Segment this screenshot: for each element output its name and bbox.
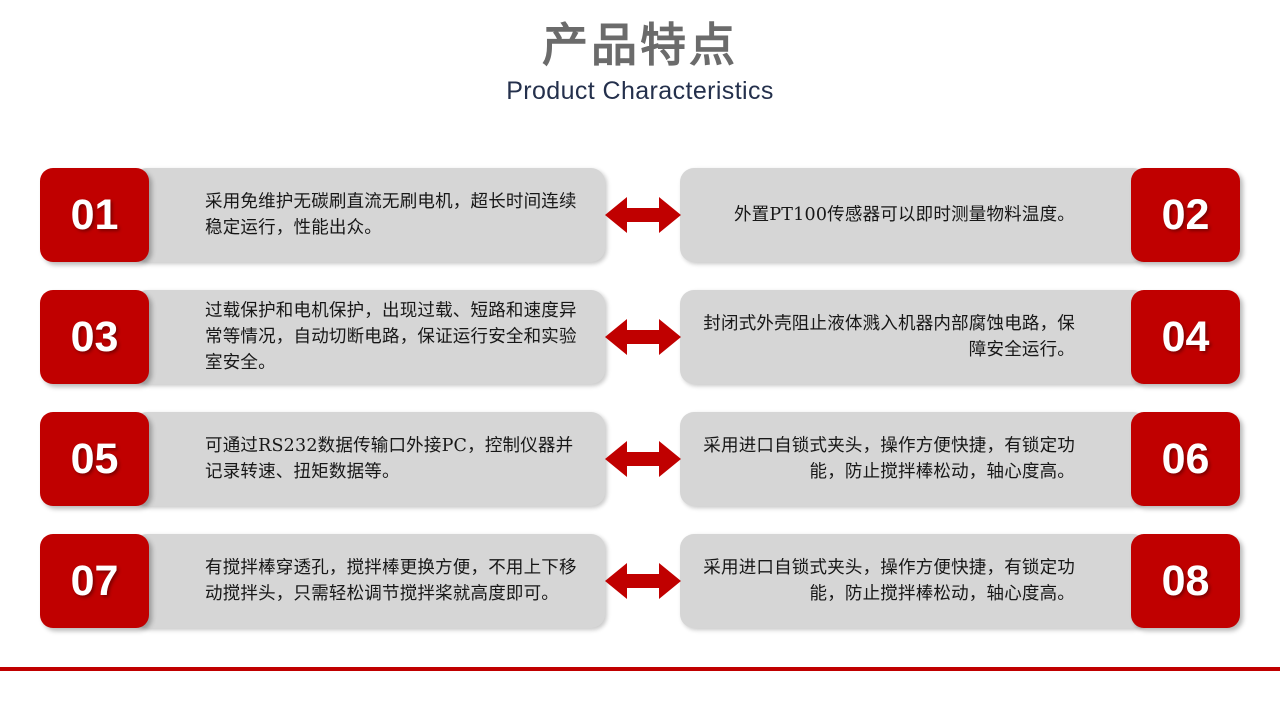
feature-text: 有搅拌棒穿透孔，搅拌棒更换方便，不用上下移动搅拌头，只需轻松调节搅拌桨就高度即可… [149,555,605,608]
feature-number-badge: 04 [1131,290,1240,384]
feature-card-right[interactable]: 采用进口自锁式夹头，操作方便快捷，有锁定功能，防止搅拌棒松动，轴心度高。 06 [680,412,1240,506]
feature-panel: 过载保护和电机保护，出现过载、短路和速度异常等情况，自动切断电路，保证运行安全和… [133,290,605,384]
feature-number-badge: 05 [40,412,149,506]
double-arrow-horizontal-icon [605,195,681,235]
feature-number-badge: 06 [1131,412,1240,506]
bottom-accent-rule [0,667,1280,671]
feature-number-badge: 07 [40,534,149,628]
feature-panel: 采用免维护无碳刷直流无刷电机，超长时间连续稳定运行，性能出众。 [133,168,605,262]
feature-card-left[interactable]: 05 可通过RS232数据传输口外接PC，控制仪器并记录转速、扭矩数据等。 [40,412,605,506]
feature-row: 03 过载保护和电机保护，出现过载、短路和速度异常等情况，自动切断电路，保证运行… [0,290,1280,384]
feature-card-left[interactable]: 03 过载保护和电机保护，出现过载、短路和速度异常等情况，自动切断电路，保证运行… [40,290,605,384]
feature-number: 01 [71,194,119,237]
feature-number: 05 [71,438,119,481]
feature-card-left[interactable]: 07 有搅拌棒穿透孔，搅拌棒更换方便，不用上下移动搅拌头，只需轻松调节搅拌桨就高… [40,534,605,628]
feature-number-badge: 02 [1131,168,1240,262]
feature-number: 08 [1162,560,1210,603]
feature-number-badge: 03 [40,290,149,384]
feature-card-left[interactable]: 01 采用免维护无碳刷直流无刷电机，超长时间连续稳定运行，性能出众。 [40,168,605,262]
double-arrow-horizontal-icon [605,561,681,601]
feature-rows: 01 采用免维护无碳刷直流无刷电机，超长时间连续稳定运行，性能出众。 外置PT1… [0,168,1280,628]
feature-card-right[interactable]: 外置PT100传感器可以即时测量物料温度。 02 [680,168,1240,262]
feature-panel: 外置PT100传感器可以即时测量物料温度。 [680,168,1147,262]
feature-row: 07 有搅拌棒穿透孔，搅拌棒更换方便，不用上下移动搅拌头，只需轻松调节搅拌桨就高… [0,534,1280,628]
feature-number-badge: 01 [40,168,149,262]
page-title-en: Product Characteristics [0,76,1280,107]
feature-row: 05 可通过RS232数据传输口外接PC，控制仪器并记录转速、扭矩数据等。 采用… [0,412,1280,506]
feature-panel: 采用进口自锁式夹头，操作方便快捷，有锁定功能，防止搅拌棒松动，轴心度高。 [680,412,1147,506]
feature-text: 外置PT100传感器可以即时测量物料温度。 [680,202,1131,228]
feature-text: 采用进口自锁式夹头，操作方便快捷，有锁定功能，防止搅拌棒松动，轴心度高。 [680,433,1131,486]
feature-text: 采用进口自锁式夹头，操作方便快捷，有锁定功能，防止搅拌棒松动，轴心度高。 [680,555,1131,608]
feature-number: 04 [1162,316,1210,359]
double-arrow-horizontal-icon [605,439,681,479]
feature-text: 封闭式外壳阻止液体溅入机器内部腐蚀电路，保障安全运行。 [680,311,1131,364]
feature-number: 02 [1162,194,1210,237]
feature-text: 可通过RS232数据传输口外接PC，控制仪器并记录转速、扭矩数据等。 [149,433,605,486]
feature-number: 07 [71,560,119,603]
feature-card-right[interactable]: 封闭式外壳阻止液体溅入机器内部腐蚀电路，保障安全运行。 04 [680,290,1240,384]
feature-panel: 有搅拌棒穿透孔，搅拌棒更换方便，不用上下移动搅拌头，只需轻松调节搅拌桨就高度即可… [133,534,605,628]
feature-panel: 可通过RS232数据传输口外接PC，控制仪器并记录转速、扭矩数据等。 [133,412,605,506]
feature-text: 采用免维护无碳刷直流无刷电机，超长时间连续稳定运行，性能出众。 [149,189,605,242]
double-arrow-horizontal-icon [605,317,681,357]
feature-number: 03 [71,316,119,359]
page-header: 产品特点 Product Characteristics [0,18,1280,108]
feature-number-badge: 08 [1131,534,1240,628]
feature-panel: 采用进口自锁式夹头，操作方便快捷，有锁定功能，防止搅拌棒松动，轴心度高。 [680,534,1147,628]
feature-number: 06 [1162,438,1210,481]
feature-text: 过载保护和电机保护，出现过载、短路和速度异常等情况，自动切断电路，保证运行安全和… [149,298,605,377]
feature-panel: 封闭式外壳阻止液体溅入机器内部腐蚀电路，保障安全运行。 [680,290,1147,384]
feature-row: 01 采用免维护无碳刷直流无刷电机，超长时间连续稳定运行，性能出众。 外置PT1… [0,168,1280,262]
feature-card-right[interactable]: 采用进口自锁式夹头，操作方便快捷，有锁定功能，防止搅拌棒松动，轴心度高。 08 [680,534,1240,628]
page-title-cn: 产品特点 [0,18,1280,72]
